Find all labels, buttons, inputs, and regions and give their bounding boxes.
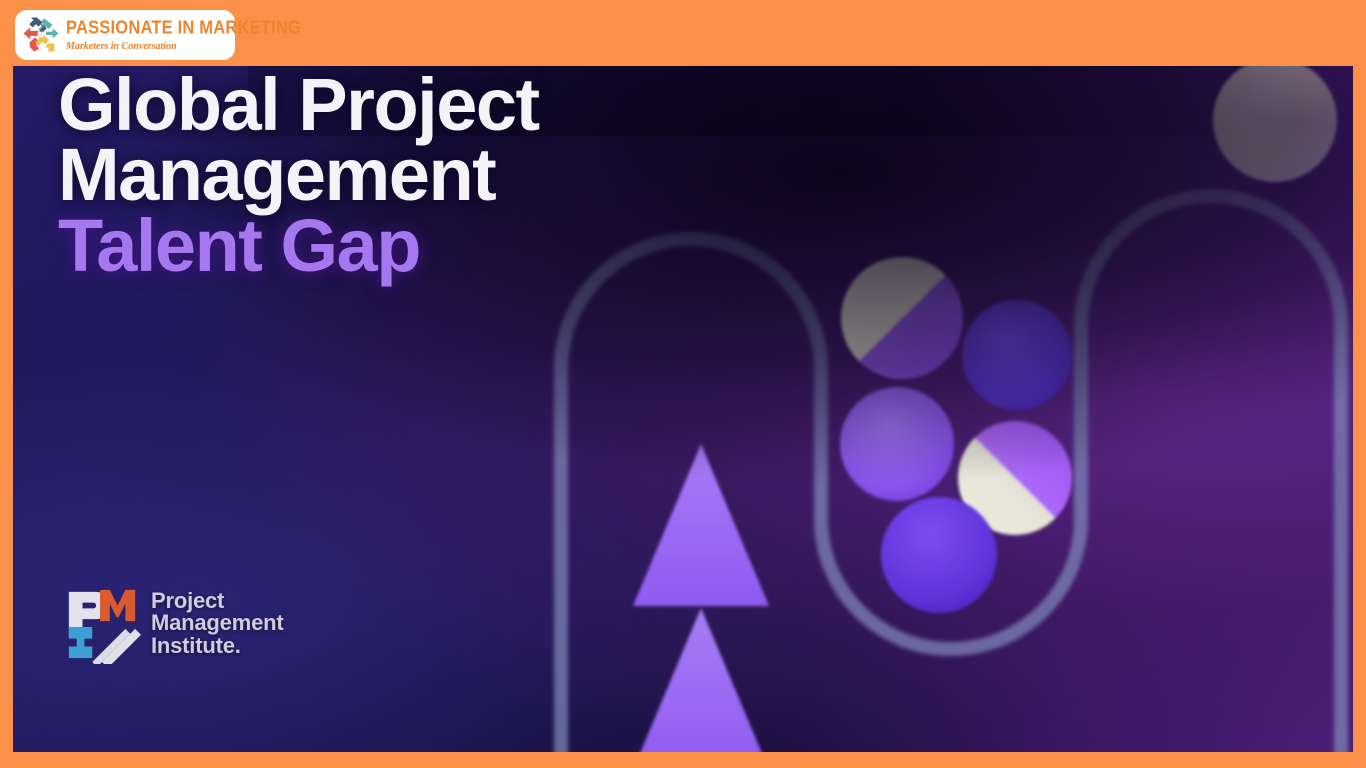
pinwheel-arrows-icon (21, 15, 61, 55)
pmi-line-2: Management (151, 612, 283, 634)
solid-circle-middle-left (840, 387, 954, 501)
pmi-wordmark: Project Management Institute. (151, 586, 283, 657)
site-logo-text: PASSIONATE IN MARKETING Marketers in Con… (66, 19, 301, 52)
site-logo-badge[interactable]: PASSIONATE IN MARKETING Marketers in Con… (15, 10, 235, 60)
pmi-line-3: Institute. (151, 635, 283, 657)
triangle-lower (633, 608, 769, 752)
page-title: Global Project Management Talent Gap (58, 70, 539, 281)
triangle-upper (633, 444, 769, 606)
project-management-institute-logo: Project Management Institute. (63, 586, 283, 664)
headline-line-3: Talent Gap (58, 211, 539, 281)
page-root: Global Project Management Talent Gap Pro… (0, 0, 1366, 768)
site-logo-tagline: Marketers in Conversation (66, 41, 301, 52)
split-circle-upper (841, 257, 963, 379)
pmi-mark-icon (63, 586, 141, 664)
headline-line-2: Management (58, 140, 539, 210)
solid-circle-bottom (881, 497, 997, 613)
headline-line-1: Global Project (58, 70, 539, 140)
banner-artwork: Global Project Management Talent Gap Pro… (13, 66, 1353, 752)
cream-sphere (1213, 66, 1337, 182)
site-logo-title: PASSIONATE IN MARKETING (66, 17, 301, 38)
circle-cluster (840, 257, 1072, 613)
solid-circle-upper-right (962, 300, 1072, 410)
